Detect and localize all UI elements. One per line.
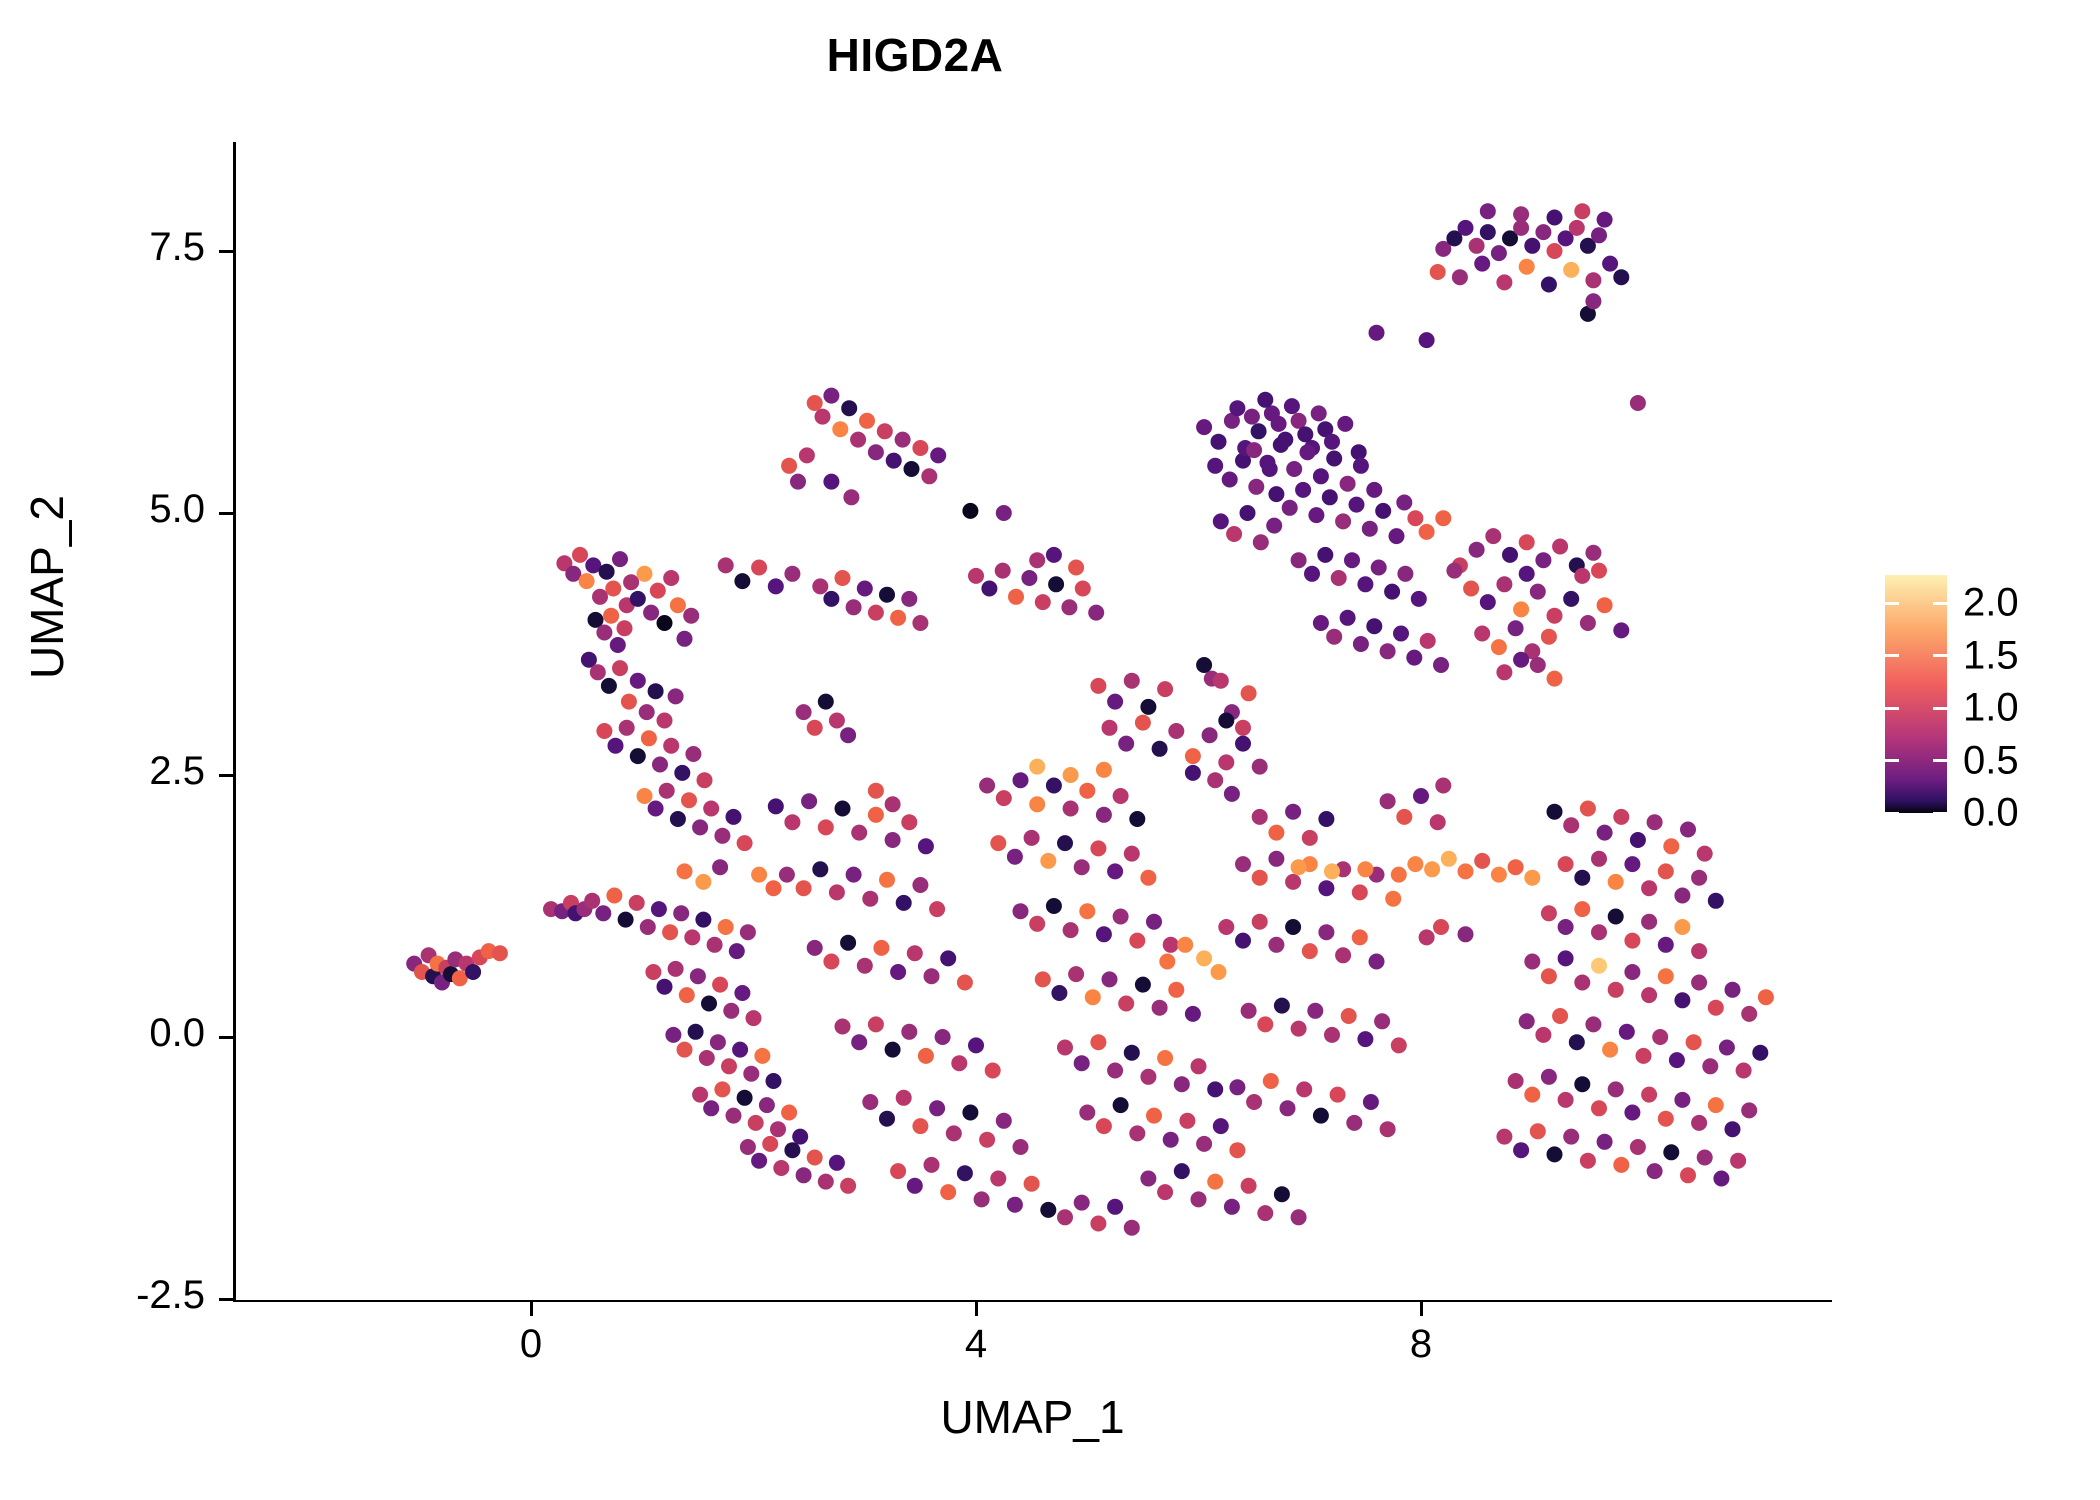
scatter-point (770, 1121, 786, 1137)
scatter-point (1547, 243, 1563, 259)
scatter-point (877, 423, 893, 439)
scatter-point (1146, 1108, 1162, 1124)
scatter-point (610, 637, 626, 653)
scatter-point (1435, 510, 1451, 526)
scatter-point (1174, 1076, 1190, 1092)
scatter-point (886, 453, 902, 469)
scatter-point (1351, 444, 1367, 460)
scatter-point (968, 568, 984, 584)
scatter-point (1369, 325, 1385, 341)
scatter-point (695, 874, 711, 890)
scatter-point (1280, 1100, 1296, 1116)
scatter-point (784, 1142, 800, 1158)
scatter-point (1224, 786, 1240, 802)
colorbar-tick-label: 1.0 (1963, 686, 2019, 731)
scatter-point (766, 880, 782, 896)
scatter-point (1691, 870, 1707, 886)
scatter-point (829, 713, 845, 729)
y-tick-label: -2.5 (0, 1273, 205, 1318)
scatter-point (1708, 1000, 1724, 1016)
scatter-point (1129, 1125, 1145, 1141)
scatter-point (1496, 274, 1512, 290)
scatter-point (1375, 503, 1391, 519)
scatter-point (1096, 1118, 1112, 1134)
y-tick-label: 0.0 (0, 1011, 205, 1056)
scatter-point (690, 968, 706, 984)
scatter-point (1474, 853, 1490, 869)
scatter-point (1674, 1092, 1690, 1108)
scatter-point (670, 597, 686, 613)
scatter-point (1513, 1142, 1529, 1158)
scatter-point (1113, 1097, 1129, 1113)
scatter-point (1007, 849, 1023, 865)
scatter-point (784, 566, 800, 582)
scatter-point (1285, 874, 1301, 890)
scatter-point (1224, 1199, 1240, 1215)
scatter-point (823, 388, 839, 404)
scatter-point (1541, 968, 1557, 984)
scatter-point (1079, 1105, 1095, 1121)
scatter-point (792, 1129, 808, 1145)
scatter-point (1090, 678, 1106, 694)
scatter-point (1680, 822, 1696, 838)
scatter-point (630, 673, 646, 689)
scatter-point (1074, 859, 1090, 875)
scatter-point (651, 901, 667, 917)
scatter-point (1213, 513, 1229, 529)
scatter-point (1152, 1000, 1168, 1016)
scatter-point (1424, 861, 1440, 877)
scatter-point (879, 872, 895, 888)
scatter-point (1124, 846, 1140, 862)
scatter-point (1177, 937, 1193, 953)
scatter-point (1326, 629, 1342, 645)
scatter-point (1558, 856, 1574, 872)
scatter-point (996, 790, 1012, 806)
scatter-point (590, 664, 606, 680)
scatter-point (1273, 437, 1289, 453)
scatter-point (734, 985, 750, 1001)
scatter-point (1291, 859, 1307, 875)
scatter-point (1157, 681, 1173, 697)
scatter-point (1580, 615, 1596, 631)
scatter-point (929, 1100, 945, 1116)
scatter-point (659, 783, 675, 799)
scatter-point (1075, 581, 1091, 597)
scatter-point (712, 977, 728, 993)
scatter-point (896, 895, 912, 911)
scatter-point (617, 620, 633, 636)
scatter-point (1335, 513, 1351, 529)
scatter-point (818, 694, 834, 710)
scatter-point (890, 964, 906, 980)
scatter-point (1420, 633, 1436, 649)
scatter-point (1307, 1003, 1323, 1019)
x-tick-mark (975, 1302, 978, 1316)
scatter-point (714, 1081, 730, 1097)
scatter-point (1513, 206, 1529, 222)
scatter-point (1585, 545, 1601, 561)
scatter-point (1608, 874, 1624, 890)
scatter-point (1291, 1021, 1307, 1037)
scatter-point (1535, 224, 1551, 240)
scatter-point (818, 819, 834, 835)
scatter-point (1435, 778, 1451, 794)
scatter-point (1524, 1087, 1540, 1103)
scatter-point (699, 1050, 715, 1066)
scatter-point (812, 861, 828, 877)
scatter-point (612, 551, 628, 567)
scatter-point (759, 1097, 775, 1113)
scatter-point (1211, 964, 1227, 980)
scatter-point (1024, 830, 1040, 846)
scatter-point (1322, 489, 1338, 505)
scatter-point (1218, 754, 1234, 770)
y-axis-title: UMAP_2 (20, 422, 74, 752)
scatter-point (1252, 759, 1268, 775)
scatter-point (1430, 264, 1446, 280)
scatter-point (1257, 1205, 1273, 1221)
scatter-point (1196, 950, 1212, 966)
scatter-point (751, 560, 767, 576)
scatter-point (1253, 534, 1269, 550)
scatter-point (846, 599, 862, 615)
scatter-point (1352, 884, 1368, 900)
scatter-point (1469, 542, 1485, 558)
scatter-point (1129, 811, 1145, 827)
scatter-point (1535, 1027, 1551, 1043)
scatter-point (1558, 919, 1574, 935)
scatter-point (1591, 1100, 1607, 1116)
scatter-point (1252, 914, 1268, 930)
scatter-point (1741, 1102, 1757, 1118)
scatter-point (1008, 589, 1024, 605)
scatter-point (1061, 599, 1077, 615)
scatter-point (1085, 989, 1101, 1005)
scatter-point (596, 723, 612, 739)
scatter-point (868, 1016, 884, 1032)
scatter-point (663, 570, 679, 586)
scatter-point (1163, 937, 1179, 953)
scatter-point (995, 563, 1011, 579)
scatter-point (1213, 1118, 1229, 1134)
scatter-point (1240, 505, 1256, 521)
scatter-point (673, 905, 689, 921)
x-tick-mark (1420, 1302, 1423, 1316)
scatter-point (1035, 594, 1051, 610)
scatter-point (1602, 1042, 1618, 1058)
scatter-point (1324, 1027, 1340, 1043)
scatter-point (1491, 245, 1507, 261)
scatter-point (857, 958, 873, 974)
scatter-point (1090, 1034, 1106, 1050)
scatter-point (1569, 220, 1585, 236)
scatter-point (1268, 825, 1284, 841)
scatter-point (1013, 1139, 1029, 1155)
scatter-point (1222, 472, 1238, 488)
scatter-point (1630, 1139, 1646, 1155)
scatter-point (1152, 741, 1168, 757)
scatter-point (1218, 713, 1234, 729)
scatter-point (1730, 1153, 1746, 1169)
scatter-point (1211, 434, 1227, 450)
scatter-point (796, 704, 812, 720)
scatter-point (1252, 809, 1268, 825)
scatter-point (652, 757, 668, 773)
scatter-point (1658, 863, 1674, 879)
scatter-point (1302, 830, 1318, 846)
scatter-point (1713, 1171, 1729, 1187)
scatter-point (1580, 801, 1596, 817)
scatter-point (901, 814, 917, 830)
scatter-point (1411, 591, 1427, 607)
scatter-point (1302, 943, 1318, 959)
scatter-point (1157, 1184, 1173, 1200)
scatter-point (951, 1055, 967, 1071)
scatter-point (895, 432, 911, 448)
scatter-point (818, 1174, 834, 1190)
scatter-point (674, 765, 690, 781)
scatter-point (946, 1125, 962, 1141)
scatter-point (1491, 867, 1507, 883)
scatter-point (701, 996, 717, 1012)
scatter-point (1658, 1111, 1674, 1127)
scatter-point (1357, 861, 1373, 877)
scatter-point (1652, 1029, 1668, 1045)
scatter-point (1591, 924, 1607, 940)
scatter-point (1563, 591, 1579, 607)
scatter-point (685, 746, 701, 762)
scatter-point (885, 832, 901, 848)
scatter-point (1524, 238, 1540, 254)
scatter-point (630, 748, 646, 764)
scatter-point (1357, 1031, 1373, 1047)
scatter-point (637, 566, 653, 582)
scatter-point (1725, 1121, 1741, 1137)
colorbar-tick-mark (1933, 602, 1947, 605)
scatter-point (868, 444, 884, 460)
scatter-point (1624, 933, 1640, 949)
scatter-point (1168, 723, 1184, 739)
scatter-point (1029, 796, 1045, 812)
scatter-point (790, 474, 806, 490)
scatter-point (1552, 539, 1568, 555)
scatter-point (743, 1066, 759, 1082)
colorbar-tick-mark (1885, 602, 1899, 605)
scatter-point (1013, 772, 1029, 788)
x-tick-label: 4 (965, 1322, 987, 1367)
scatter-point (890, 610, 906, 626)
scatter-point (1491, 639, 1507, 655)
scatter-point (840, 727, 856, 743)
scatter-point (1296, 1081, 1312, 1097)
scatter-point (1597, 1134, 1613, 1150)
scatter-point (768, 798, 784, 814)
scatter-point (1741, 1006, 1757, 1022)
scatter-point (1140, 870, 1156, 886)
scatter-point (1313, 1108, 1329, 1124)
scatter-point (1260, 455, 1276, 471)
scatter-point (1385, 891, 1401, 907)
scatter-point (1263, 1073, 1279, 1089)
x-tick-label: 0 (520, 1322, 542, 1367)
scatter-point (832, 421, 848, 437)
scatter-point (1530, 657, 1546, 673)
scatter-point (1663, 1144, 1679, 1160)
scatter-point (1674, 992, 1690, 1008)
scatter-point (868, 605, 884, 621)
scatter-point (1196, 419, 1212, 435)
scatter-point (1380, 793, 1396, 809)
scatter-point (1547, 1146, 1563, 1162)
scatter-point (748, 1115, 764, 1131)
scatter-point (1163, 1132, 1179, 1148)
scatter-point (1046, 898, 1062, 914)
scatter-point (1021, 570, 1037, 586)
scatter-point (1146, 914, 1162, 930)
scatter-point (1286, 461, 1302, 477)
scatter-point (640, 919, 656, 935)
scatter-point (912, 1118, 928, 1134)
scatter-point (1558, 950, 1574, 966)
scatter-point (801, 793, 817, 809)
scatter-point (1391, 1037, 1407, 1053)
scatter-point (1291, 1209, 1307, 1225)
scatter-point (1580, 1153, 1596, 1169)
scatter-point (912, 440, 928, 456)
scatter-point (1680, 1167, 1696, 1183)
scatter-point (868, 807, 884, 823)
scatter-point (1074, 1195, 1090, 1211)
scatter-point (907, 945, 923, 961)
scatter-point (688, 1024, 704, 1040)
scatter-point (1366, 618, 1382, 634)
scatter-point (1168, 982, 1184, 998)
scatter-point (1074, 1055, 1090, 1071)
scatter-point (1597, 212, 1613, 228)
scatter-point (677, 863, 693, 879)
scatter-point (1135, 977, 1151, 993)
scatter-point (1324, 863, 1340, 879)
scatter-point (1552, 1008, 1568, 1024)
scatter-point (1458, 863, 1474, 879)
scatter-point (851, 825, 867, 841)
scatter-point (1102, 971, 1118, 987)
scatter-point (768, 578, 784, 594)
scatter-point (1040, 1202, 1056, 1218)
scatter-point (1608, 909, 1624, 925)
colorbar-gradient (1885, 575, 1947, 813)
scatter-point (859, 413, 875, 429)
scatter-point (1641, 1087, 1657, 1103)
scatter-point (737, 1090, 753, 1106)
scatter-point (823, 591, 839, 607)
scatter-point (996, 505, 1012, 521)
scatter-point (732, 1042, 748, 1058)
scatter-point (1697, 846, 1713, 862)
scatter-point (1318, 924, 1334, 940)
scatter-point (665, 1027, 681, 1043)
scatter-point (1213, 673, 1229, 689)
scatter-point (1725, 982, 1741, 998)
scatter-point (1174, 1163, 1190, 1179)
scatter-point (1357, 576, 1373, 592)
scatter-point (1353, 458, 1369, 474)
scatter-point (766, 1073, 782, 1089)
scatter-point (703, 1100, 719, 1116)
scatter-point (1396, 495, 1412, 511)
scatter-point (619, 720, 635, 736)
scatter-point (1313, 468, 1329, 484)
scatter-point (1496, 576, 1512, 592)
scatter-point (692, 1087, 708, 1103)
scatter-point (1353, 636, 1369, 652)
y-tick-label: 2.5 (0, 749, 205, 794)
scatter-point (1496, 664, 1512, 680)
scatter-point (968, 1037, 984, 1053)
scatter-point (843, 489, 859, 505)
scatter-point (572, 547, 588, 563)
scatter-point (862, 1094, 878, 1110)
scatter-point (1535, 552, 1551, 568)
scatter-point (726, 809, 742, 825)
scatter-point (1274, 998, 1290, 1014)
scatter-point (1241, 1003, 1257, 1019)
scatter-point (1291, 413, 1307, 429)
scatter-point (1311, 405, 1327, 421)
scatter-point (1118, 736, 1134, 752)
scatter-point (1248, 479, 1264, 495)
scatter-point (1613, 1157, 1629, 1173)
scatter-point (1129, 933, 1145, 949)
scatter-point (1040, 853, 1056, 869)
scatter-point (1433, 657, 1449, 673)
scatter-point (981, 581, 997, 597)
scatter-point (1282, 500, 1298, 516)
scatter-point (677, 631, 693, 647)
scatter-point (1363, 1094, 1379, 1110)
scatter-point (1419, 929, 1435, 945)
scatter-point (1207, 1174, 1223, 1190)
scatter-point (1547, 210, 1563, 226)
scatter-point (1251, 423, 1267, 439)
scatter-point (1029, 552, 1045, 568)
x-tick-mark (530, 1302, 533, 1316)
scatter-point (677, 1042, 693, 1058)
scatter-point (1519, 259, 1535, 275)
scatter-point (662, 924, 678, 940)
scatter-point (912, 877, 928, 893)
scatter-point (1630, 832, 1646, 848)
scatter-point (584, 893, 600, 909)
scatter-point (648, 683, 664, 699)
scatter-point (796, 1167, 812, 1183)
scatter-point (1391, 867, 1407, 883)
scatter-point (1547, 804, 1563, 820)
scatter-point (1708, 1097, 1724, 1113)
scatter-point (1088, 605, 1104, 621)
scatter-point (957, 1165, 973, 1181)
scatter-point (1458, 220, 1474, 236)
scatter-point (1285, 919, 1301, 935)
scatter-point (641, 730, 657, 746)
scatter-point (1608, 1081, 1624, 1097)
scatter-point (1340, 610, 1356, 626)
scatter-point (1185, 1006, 1201, 1022)
scatter-point (703, 801, 719, 817)
scatter-point (1658, 937, 1674, 953)
scatter-point (1096, 926, 1112, 942)
